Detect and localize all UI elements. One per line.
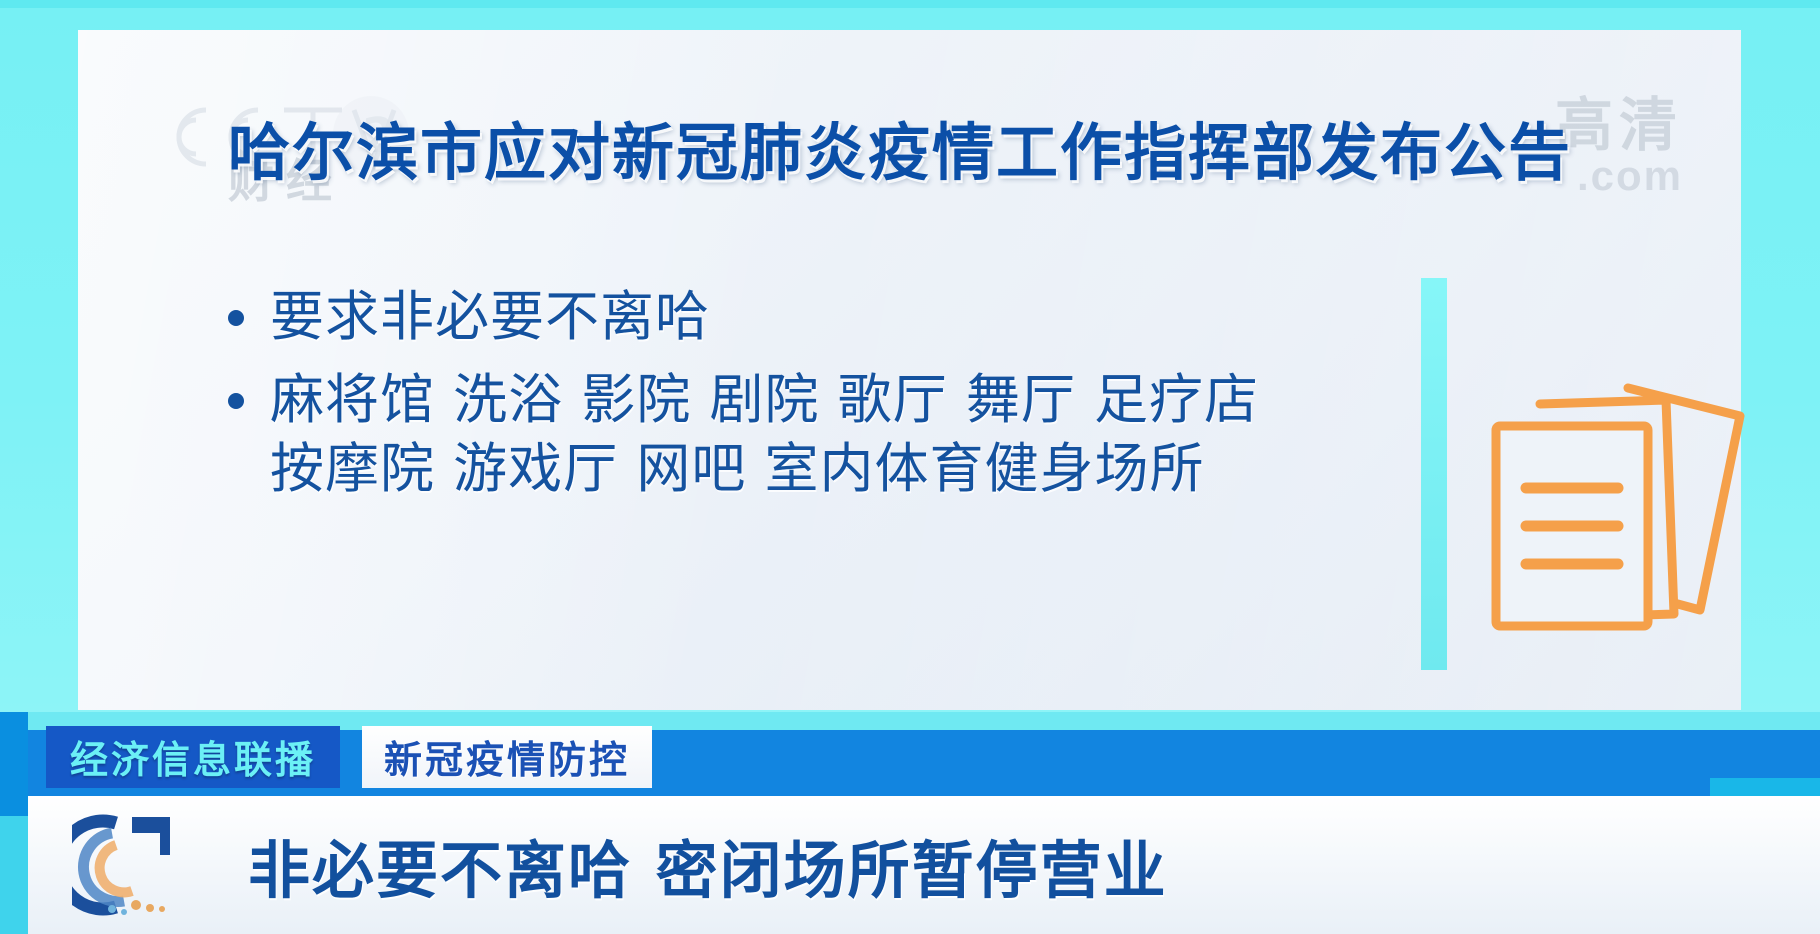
- program-name-tag: 经济信息联播: [46, 726, 340, 788]
- slide-bullet-list: 要求非必要不离哈 麻将馆 洗浴 影院 剧院 歌厅 舞厅 足疗店 按摩院 游戏厅 …: [228, 282, 1348, 517]
- list-item: 要求非必要不离哈: [228, 282, 1348, 351]
- broadcast-screen: 2 财经 高清 .com 哈尔滨市应对新冠肺炎疫情工作指挥部发布公告 要求非必要…: [0, 0, 1820, 934]
- site-watermark: 高清 .com: [1555, 78, 1683, 200]
- site-watermark-suffix: .com: [1555, 152, 1683, 200]
- top-strip: [0, 0, 1820, 8]
- slide-card: 2 财经 高清 .com 哈尔滨市应对新冠肺炎疫情工作指挥部发布公告 要求非必要…: [78, 30, 1741, 710]
- site-watermark-text: 高清: [1555, 78, 1683, 162]
- cctv-finance-swirl-logo-icon: [72, 805, 192, 925]
- bullet-text-multiline: 麻将馆 洗浴 影院 剧院 歌厅 舞厅 足疗店 按摩院 游戏厅 网吧 室内体育健身…: [270, 365, 1259, 503]
- bullet-dot-icon: [228, 310, 244, 326]
- bullet-line-1: 麻将馆 洗浴 影院 剧院 歌厅 舞厅 足疗店: [270, 368, 1259, 431]
- headline-accent-bar: [1710, 778, 1820, 796]
- topic-tag: 新冠疫情防控: [362, 726, 652, 788]
- lower-third-tags: 经济信息联播 新冠疫情防控: [46, 726, 652, 788]
- headline-strip: 非必要不离哈 密闭场所暂停营业: [28, 796, 1820, 934]
- bullet-dot-icon: [228, 393, 244, 409]
- headline-text: 非必要不离哈 密闭场所暂停营业: [248, 820, 1168, 910]
- bullet-line-2: 按摩院 游戏厅 网吧 室内体育健身场所: [270, 434, 1259, 503]
- tag-gap: [340, 726, 362, 788]
- documents-icon: [1478, 370, 1754, 632]
- slide-title: 哈尔滨市应对新冠肺炎疫情工作指挥部发布公告: [228, 102, 1572, 192]
- bullet-text: 要求非必要不离哈: [270, 282, 710, 351]
- list-item: 麻将馆 洗浴 影院 剧院 歌厅 舞厅 足疗店 按摩院 游戏厅 网吧 室内体育健身…: [228, 365, 1348, 503]
- vertical-divider: [1421, 278, 1447, 670]
